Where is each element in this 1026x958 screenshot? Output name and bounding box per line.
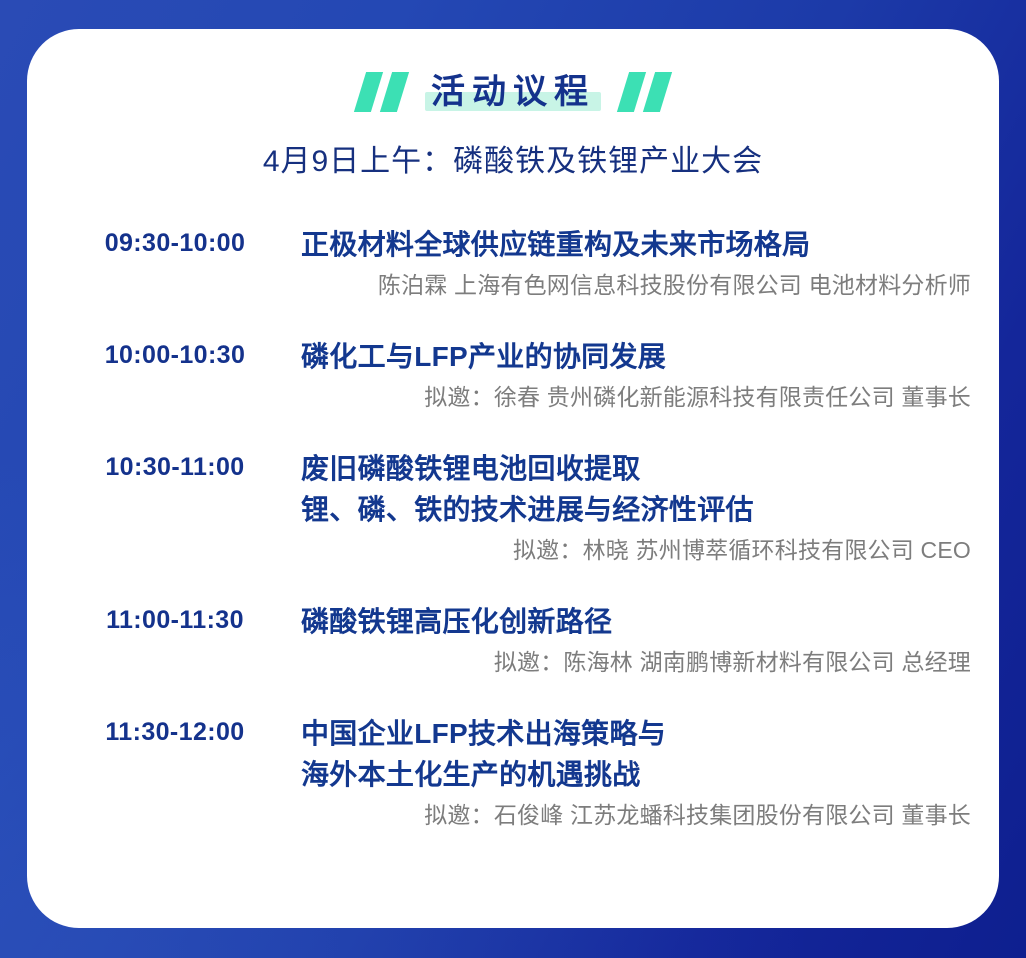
- session-title-line: 磷酸铁锂高压化创新路径: [301, 601, 971, 642]
- session-time-cell: 10:30-11:00: [49, 448, 301, 482]
- session-time: 10:00-10:30: [49, 341, 301, 370]
- poster-header: 活动议程 4月9日上午：磷酸铁及铁锂产业大会: [27, 29, 999, 181]
- session-time: 09:30-10:00: [49, 229, 301, 258]
- session-info-cell: 中国企业LFP技术出海策略与海外本土化生产的机遇挑战拟邀：石俊峰 江苏龙蟠科技集…: [301, 713, 975, 832]
- session-title-line: 中国企业LFP技术出海策略与: [301, 713, 971, 754]
- session-time-cell: 10:00-10:30: [49, 336, 301, 370]
- session-speaker: 拟邀：徐春 贵州磷化新能源科技有限责任公司 董事长: [301, 381, 971, 414]
- slash-mark-icon: [643, 72, 672, 112]
- session-info-cell: 磷化工与LFP产业的协同发展拟邀：徐春 贵州磷化新能源科技有限责任公司 董事长: [301, 336, 975, 414]
- session-info-cell: 磷酸铁锂高压化创新路径拟邀：陈海林 湖南鹏博新材料有限公司 总经理: [301, 601, 975, 679]
- agenda-session-list: 09:30-10:00正极材料全球供应链重构及未来市场格局陈泊霖 上海有色网信息…: [27, 224, 999, 832]
- session-speaker: 拟邀：陈海林 湖南鹏博新材料有限公司 总经理: [301, 646, 971, 679]
- agenda-session-row: 10:00-10:30磷化工与LFP产业的协同发展拟邀：徐春 贵州磷化新能源科技…: [49, 336, 975, 414]
- session-title: 正极材料全球供应链重构及未来市场格局: [301, 224, 971, 265]
- agenda-session-row: 10:30-11:00废旧磷酸铁锂电池回收提取锂、磷、铁的技术进展与经济性评估拟…: [49, 448, 975, 567]
- session-title: 磷化工与LFP产业的协同发展: [301, 336, 971, 377]
- session-info-cell: 正极材料全球供应链重构及未来市场格局陈泊霖 上海有色网信息科技股份有限公司 电池…: [301, 224, 975, 302]
- session-title: 磷酸铁锂高压化创新路径: [301, 601, 971, 642]
- session-info-cell: 废旧磷酸铁锂电池回收提取锂、磷、铁的技术进展与经济性评估拟邀：林晓 苏州博萃循环…: [301, 448, 975, 567]
- slash-decoration-left-icon: [360, 72, 403, 112]
- slash-mark-icon: [617, 72, 646, 112]
- session-title-line: 海外本土化生产的机遇挑战: [301, 754, 971, 795]
- session-title-line: 正极材料全球供应链重构及未来市场格局: [301, 224, 971, 265]
- agenda-session-row: 09:30-10:00正极材料全球供应链重构及未来市场格局陈泊霖 上海有色网信息…: [49, 224, 975, 302]
- page-subtitle: 4月9日上午：磷酸铁及铁锂产业大会: [27, 143, 999, 181]
- slash-mark-icon: [354, 72, 383, 112]
- session-title: 废旧磷酸铁锂电池回收提取锂、磷、铁的技术进展与经济性评估: [301, 448, 971, 530]
- agenda-session-row: 11:30-12:00中国企业LFP技术出海策略与海外本土化生产的机遇挑战拟邀：…: [49, 713, 975, 832]
- agenda-card: 活动议程 4月9日上午：磷酸铁及铁锂产业大会 09:30-10:00正极材料全球…: [27, 29, 999, 928]
- title-row: 活动议程: [27, 61, 999, 123]
- session-speaker: 陈泊霖 上海有色网信息科技股份有限公司 电池材料分析师: [301, 269, 971, 302]
- page-title: 活动议程: [431, 73, 595, 111]
- session-time: 11:30-12:00: [49, 718, 301, 747]
- session-title: 中国企业LFP技术出海策略与海外本土化生产的机遇挑战: [301, 713, 971, 795]
- session-speaker: 拟邀：石俊峰 江苏龙蟠科技集团股份有限公司 董事长: [301, 799, 971, 832]
- session-time: 10:30-11:00: [49, 453, 301, 482]
- session-title-line: 废旧磷酸铁锂电池回收提取: [301, 448, 971, 489]
- slash-mark-icon: [380, 72, 409, 112]
- session-time-cell: 11:30-12:00: [49, 713, 301, 747]
- session-time-cell: 11:00-11:30: [49, 601, 301, 635]
- session-time-cell: 09:30-10:00: [49, 224, 301, 258]
- slash-decoration-right-icon: [623, 72, 666, 112]
- session-title-line: 磷化工与LFP产业的协同发展: [301, 336, 971, 377]
- poster-background: 活动议程 4月9日上午：磷酸铁及铁锂产业大会 09:30-10:00正极材料全球…: [0, 0, 1026, 958]
- session-speaker: 拟邀：林晓 苏州博萃循环科技有限公司 CEO: [301, 534, 971, 567]
- agenda-session-row: 11:00-11:30磷酸铁锂高压化创新路径拟邀：陈海林 湖南鹏博新材料有限公司…: [49, 601, 975, 679]
- page-title-wrap: 活动议程: [429, 70, 597, 114]
- session-title-line: 锂、磷、铁的技术进展与经济性评估: [301, 489, 971, 530]
- session-time: 11:00-11:30: [49, 606, 301, 635]
